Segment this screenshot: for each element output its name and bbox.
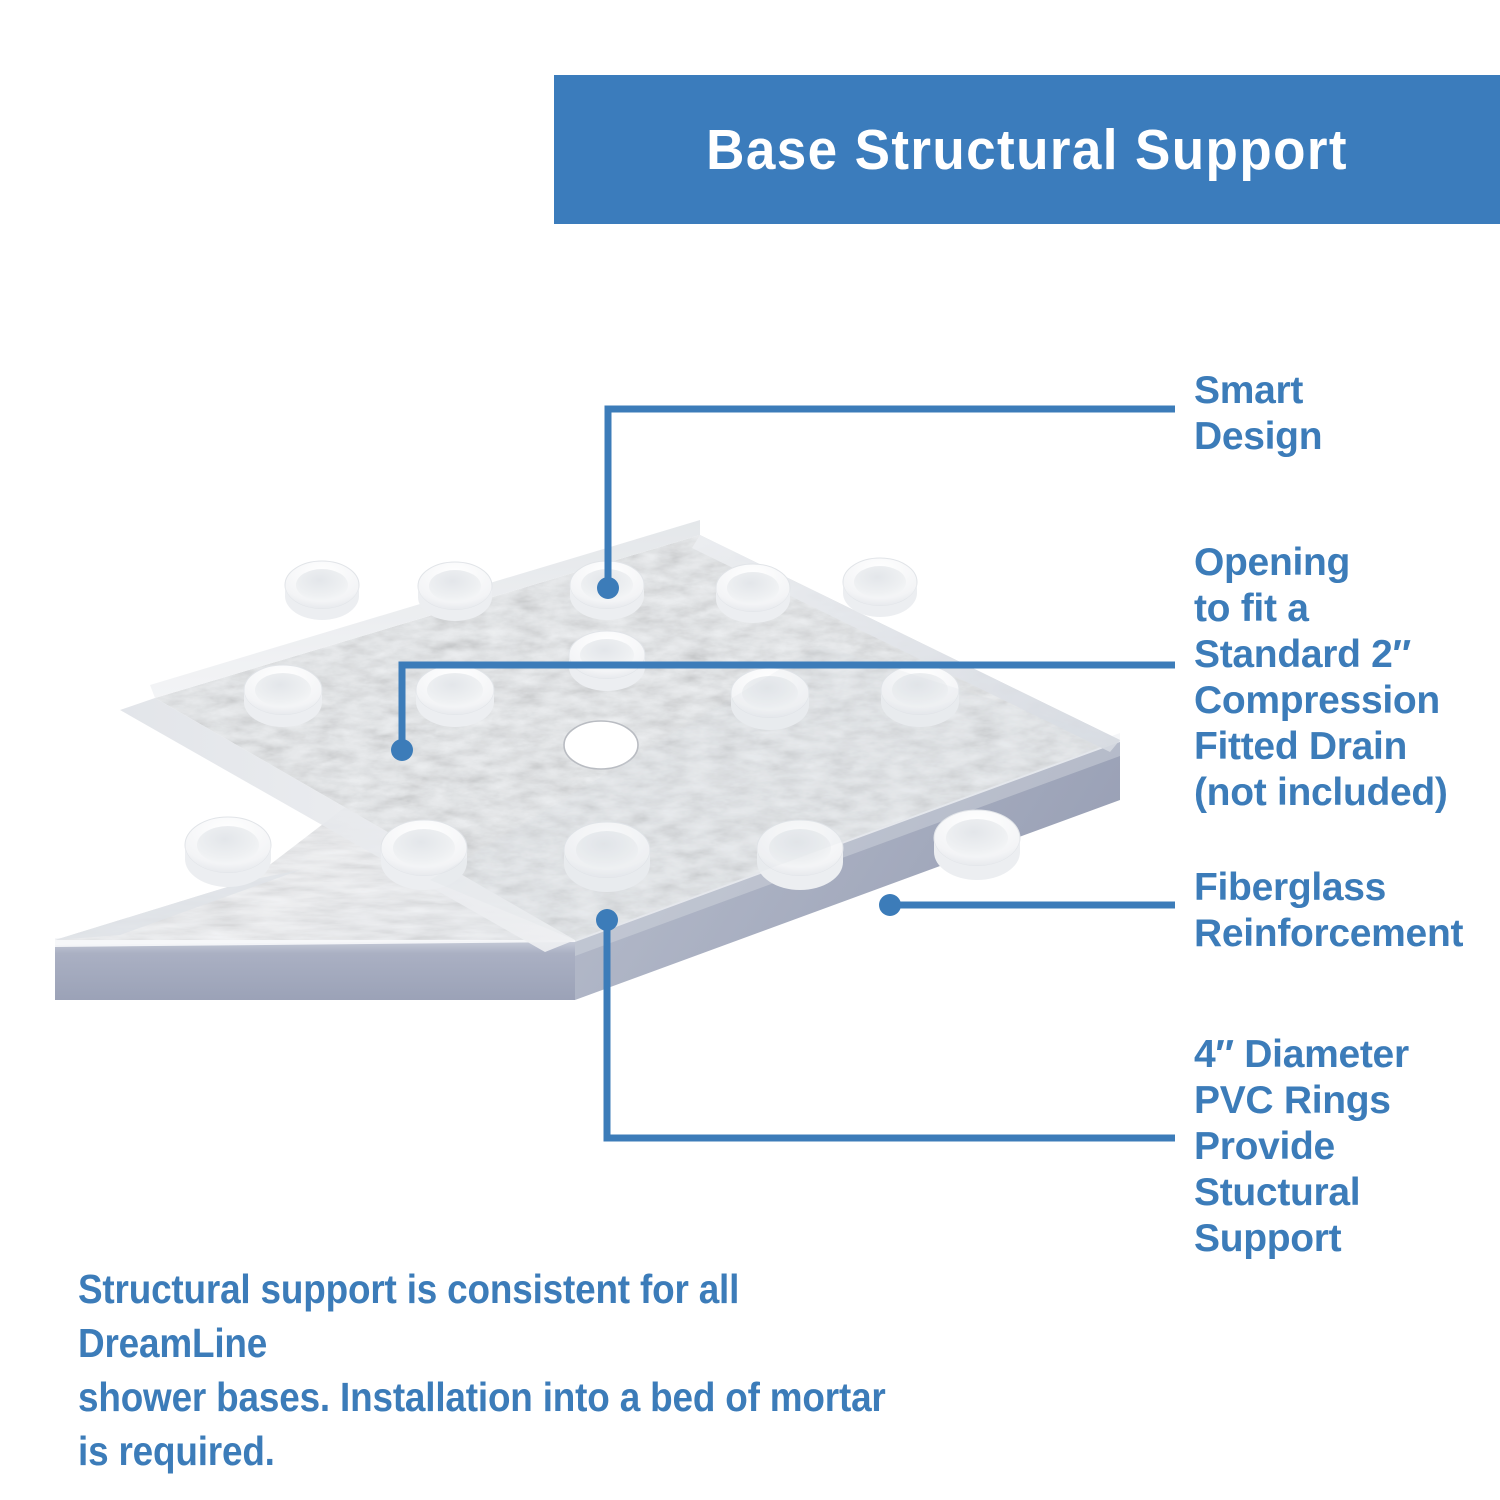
callout-label-pvc-rings: 4″ Diameter PVC Rings Provide Stuctural … bbox=[1194, 1032, 1494, 1262]
pvc-ring bbox=[934, 810, 1020, 880]
pvc-ring bbox=[569, 631, 645, 691]
bottom-note-text: Structural support is consistent for all… bbox=[78, 1262, 933, 1478]
page-title: Base Structural Support bbox=[706, 117, 1348, 183]
callout-label-fiberglass: Fiberglass Reinforcement bbox=[1194, 865, 1494, 957]
shower-base-illustration bbox=[0, 440, 1200, 1060]
callout-label-smart-design: Smart Design bbox=[1194, 368, 1494, 460]
pvc-ring bbox=[418, 562, 492, 621]
pvc-ring bbox=[843, 558, 917, 617]
pvc-ring bbox=[570, 561, 644, 620]
pvc-ring bbox=[244, 665, 322, 727]
infographic-page: Base Structural Support Smart Design Ope… bbox=[0, 0, 1500, 1500]
base-body-front bbox=[55, 940, 575, 1000]
header-banner: Base Structural Support bbox=[554, 75, 1500, 224]
pvc-ring bbox=[416, 665, 494, 727]
callout-label-drain-opening: Opening to fit a Standard 2″ Compression… bbox=[1194, 540, 1499, 816]
pvc-ring bbox=[185, 817, 271, 887]
pvc-ring bbox=[716, 564, 790, 623]
pvc-ring bbox=[285, 561, 359, 620]
